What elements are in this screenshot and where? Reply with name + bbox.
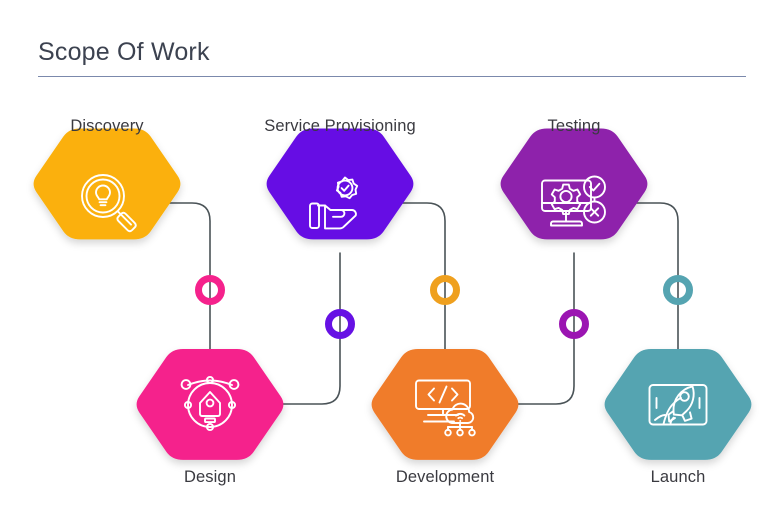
node-development[interactable] (372, 349, 519, 460)
hexagon-testing (501, 128, 648, 239)
node-service-provisioning[interactable] (267, 128, 414, 239)
connector-rings (199, 279, 690, 336)
hexagon-launch (605, 349, 752, 460)
node-label-design: Design (184, 468, 236, 487)
node-discovery[interactable] (34, 128, 181, 239)
hexagon-development (372, 349, 519, 460)
node-label-testing: Testing (548, 117, 601, 136)
hexagon-design (137, 349, 284, 460)
node-label-development: Development (396, 468, 494, 487)
node-label-discovery: Discovery (70, 117, 143, 136)
slide-canvas: Scope Of Work (0, 0, 784, 529)
node-label-service-provisioning: Service Provisioning (264, 117, 415, 136)
node-launch[interactable] (605, 349, 752, 460)
node-label-launch: Launch (651, 468, 706, 487)
node-design[interactable] (137, 349, 284, 460)
node-testing[interactable] (501, 128, 648, 239)
process-flow-diagram: Discovery Design Service Provisioning De… (0, 0, 784, 529)
flow-graphics (0, 0, 784, 529)
hexagon-discovery (34, 128, 181, 239)
